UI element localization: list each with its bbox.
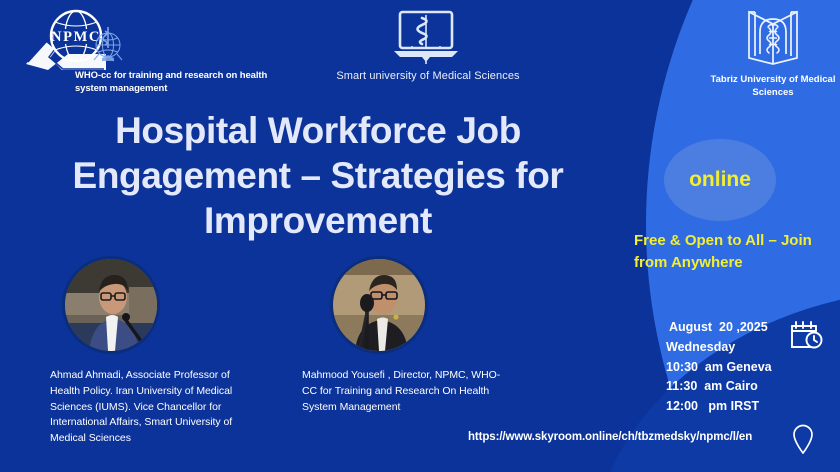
who-emblem-icon (88, 24, 128, 64)
tabriz-university-logo-caption: Tabriz University of Medical Sciences (700, 74, 840, 100)
avatar-speaker-1 (62, 256, 160, 354)
join-link[interactable]: https://www.skyroom.online/ch/tbzmedsky/… (468, 431, 752, 443)
page-title: Hospital Workforce Job Engagement – Stra… (28, 108, 608, 243)
online-badge: online (664, 139, 776, 221)
avatar-speaker-2 (330, 256, 428, 354)
webinar-poster: NPMC WHO-cc for training and research on… (0, 0, 840, 472)
calendar-clock-icon (790, 318, 824, 350)
book-dna-helix-logo (744, 6, 802, 68)
speaker-card-2: Mahmood Yousefi , Director, NPMC, WHO-CC… (330, 256, 428, 354)
speaker-bio-2: Mahmood Yousefi , Director, NPMC, WHO-CC… (302, 368, 502, 415)
schedule-text: August 20 ,2025 Wednesday 10:30 am Genev… (666, 318, 786, 417)
smart-university-logo-caption: Smart university of Medical Sciences (330, 70, 526, 82)
location-pin-icon (792, 424, 814, 454)
speaker-card-1: Ahmad Ahmadi, Associate Professor of Hea… (62, 256, 160, 354)
laptop-book-asclepius-logo (392, 10, 460, 66)
online-badge-label: online (689, 168, 751, 192)
speaker-bio-1: Ahmad Ahmadi, Associate Professor of Hea… (50, 368, 262, 447)
npmc-logo-caption: WHO-cc for training and research on heal… (75, 70, 275, 96)
free-open-note: Free & Open to All – Join from Anywhere (634, 230, 840, 274)
